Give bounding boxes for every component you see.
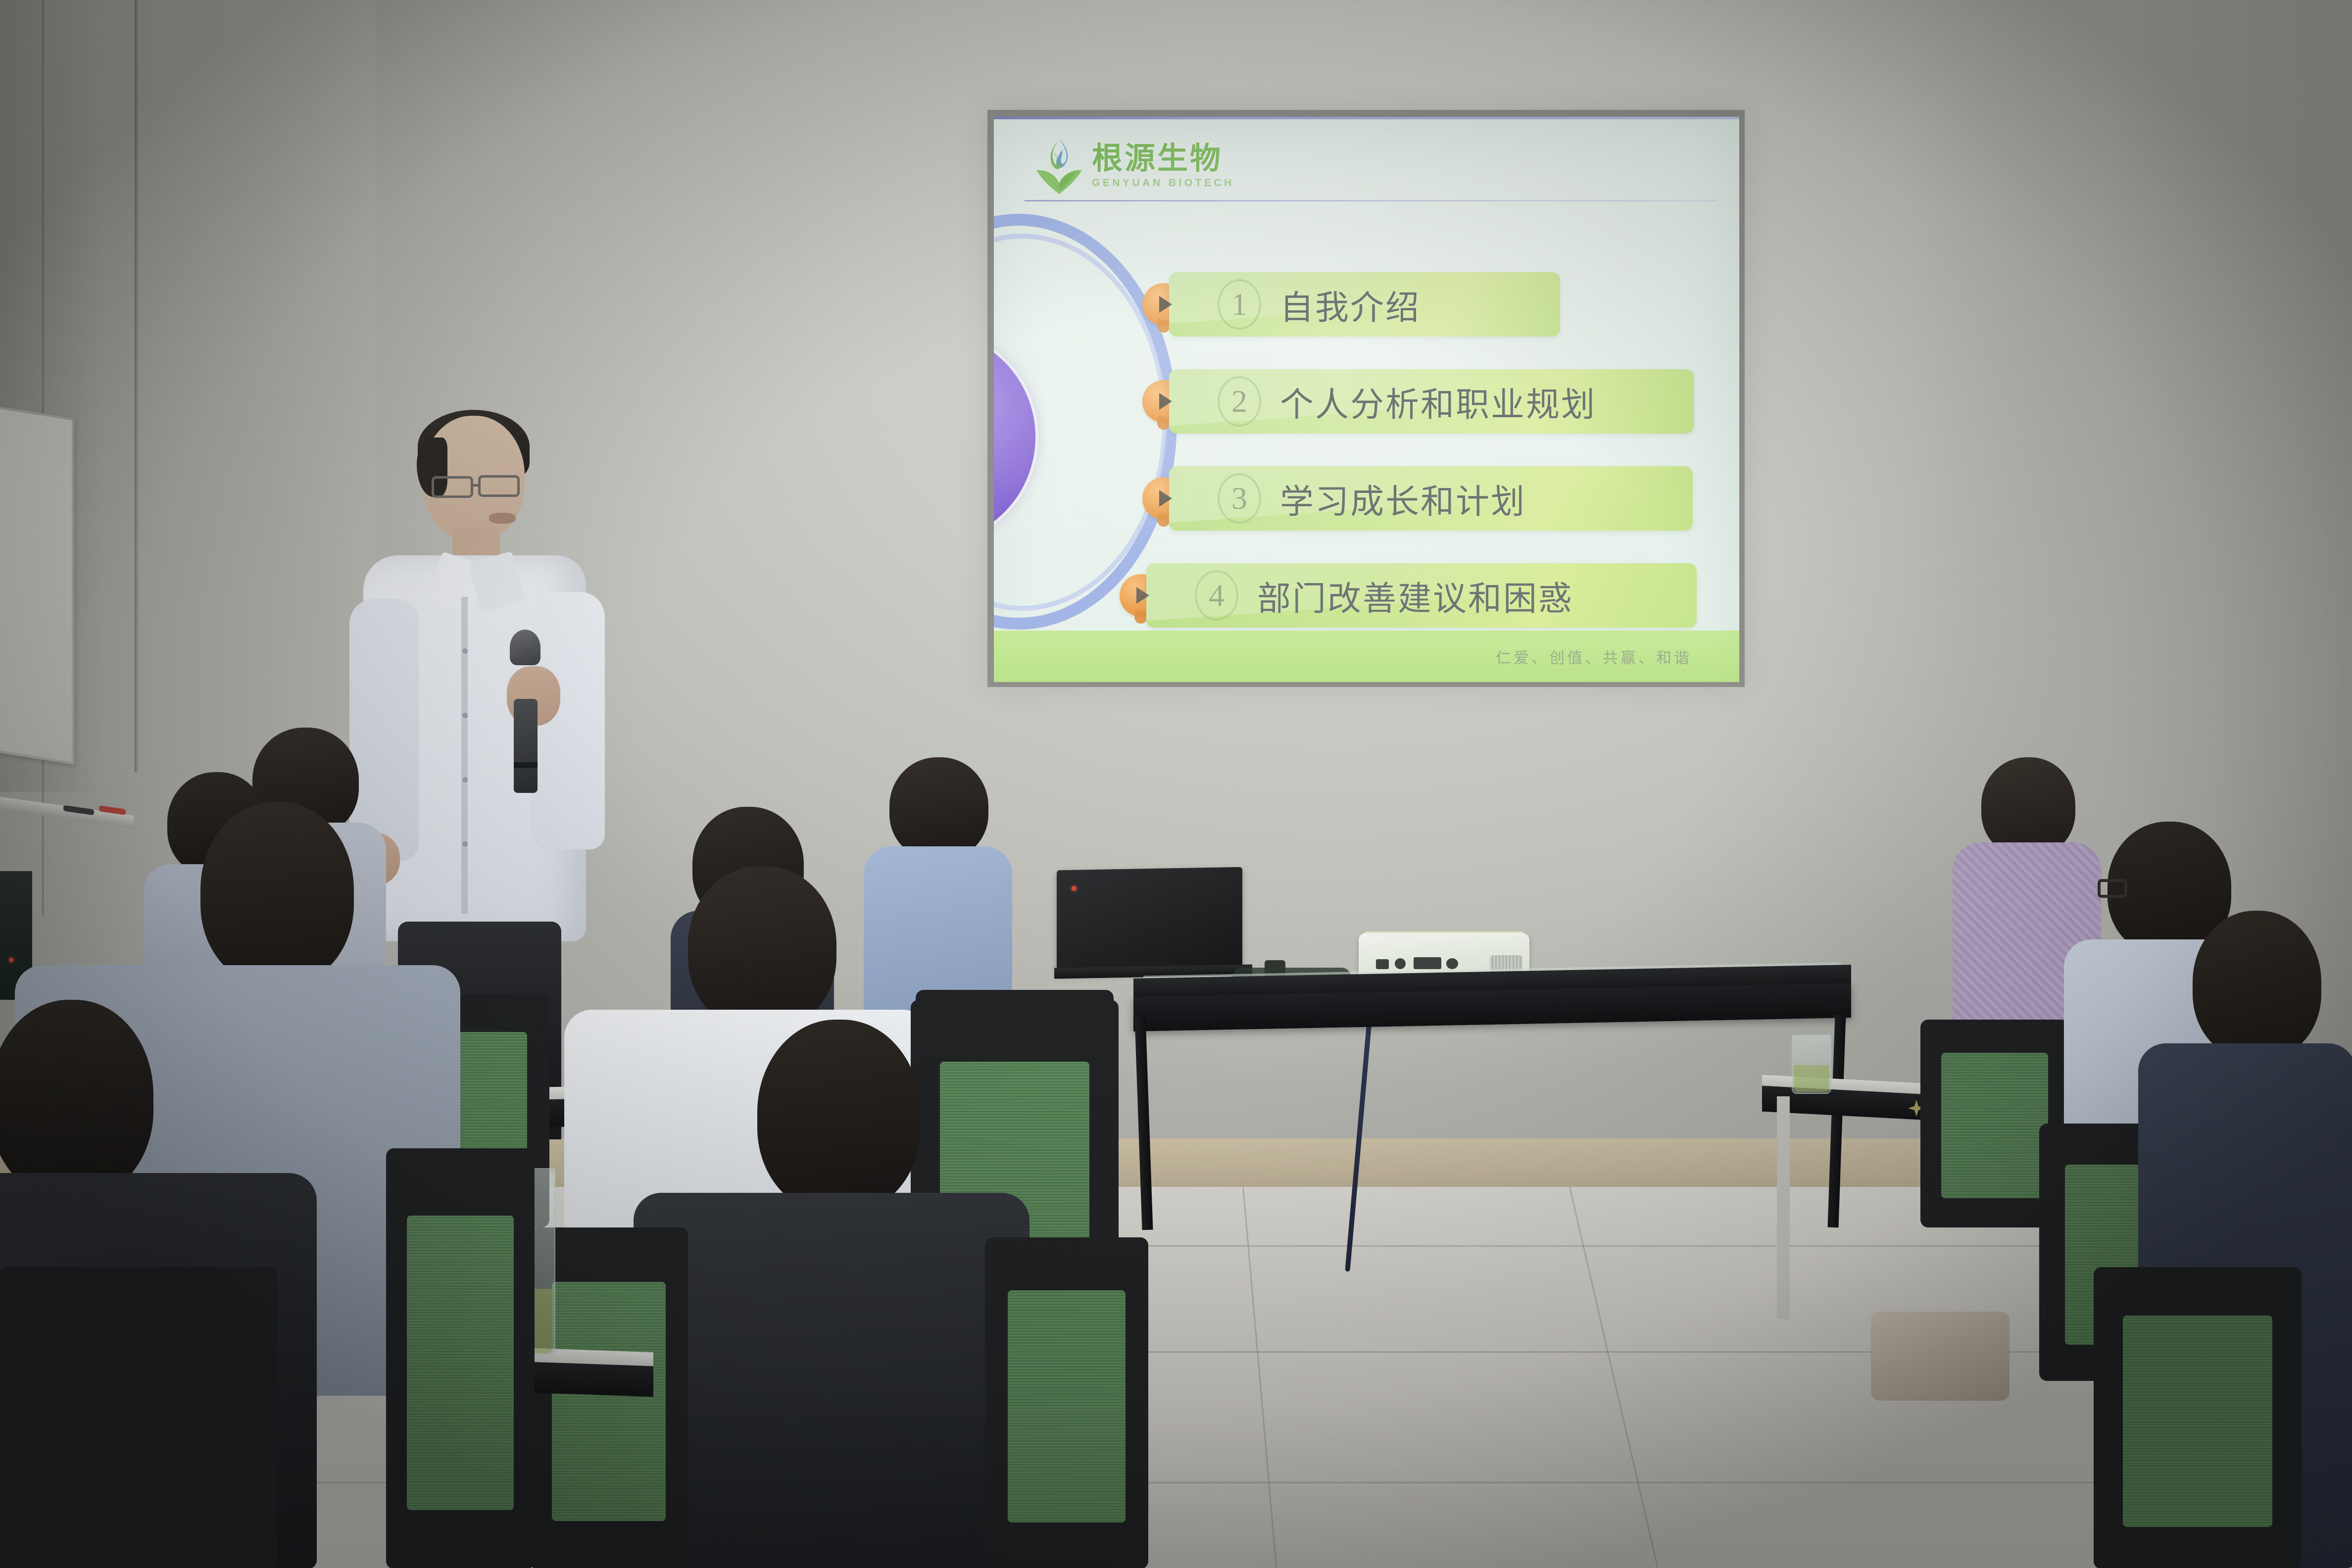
agenda-number: 4: [1195, 570, 1238, 621]
agenda-item-1: 1 自我介绍: [1142, 265, 1697, 362]
person-head: [200, 802, 354, 985]
leaf-flame-logo-icon: [1033, 136, 1085, 195]
presenter-mouth: [489, 513, 516, 524]
agenda-number: 2: [1218, 376, 1261, 427]
slide-footer-slogan: 仁爱、创值、共赢、和谐: [1496, 645, 1692, 668]
water-glass: [1792, 1034, 1831, 1094]
agenda-label: 部门改善建议和困惑: [1257, 571, 1573, 620]
agenda-label: 自我介绍: [1280, 280, 1421, 329]
microphone-ring: [514, 762, 538, 768]
person-head: [1981, 757, 2075, 856]
glasses-bridge-icon: [472, 484, 480, 487]
agenda-item-2: 2 个人分析和职业规划: [1142, 362, 1697, 459]
person-head: [2193, 911, 2321, 1059]
audience-person-center-front: [634, 1020, 1029, 1568]
logo-chinese-text: 根源生物: [1092, 143, 1234, 174]
projected-slide: 根源生物 GENYUAN BIOTECH 1 自我介绍: [994, 117, 1739, 682]
draped-jacket: [1871, 1312, 2009, 1401]
presenter-shirt-placket: [461, 597, 468, 914]
agenda-number: 3: [1218, 473, 1261, 524]
slide-footer-band: 仁爱、创值、共赢、和谐: [994, 631, 1739, 682]
agenda-bar: 3 学习成长和计划: [1169, 466, 1693, 531]
agenda-label: 个人分析和职业规划: [1280, 377, 1596, 426]
audience-desk-right-leg: [1777, 1096, 1790, 1319]
agenda-number: 1: [1218, 279, 1261, 330]
microphone-body-icon: [514, 699, 538, 793]
slide-header-divider: [1025, 200, 1717, 201]
agenda-bar: 4 部门改善建议和困惑: [1146, 563, 1697, 628]
person-torso: [634, 1193, 1029, 1568]
agenda-label: 学习成长和计划: [1280, 474, 1526, 523]
agenda-bar: 2 个人分析和职业规划: [1169, 369, 1694, 434]
laptop-lid: [1057, 867, 1242, 975]
audience-chair-left-front: [0, 1267, 277, 1568]
microphone-head-icon: [510, 630, 540, 665]
monitor-power-led-icon: [9, 958, 13, 962]
person-head: [0, 1000, 153, 1198]
glasses-right-lens-icon: [478, 475, 520, 497]
audience-chair-left-mid: [386, 1148, 535, 1568]
audience-chair-center-front-right: [985, 1237, 1148, 1568]
glasses-left-lens-icon: [432, 476, 473, 498]
laptop-led-icon: [1072, 886, 1077, 891]
company-logo: 根源生物 GENYUAN BIOTECH: [1033, 136, 1234, 195]
eyeglasses-icon: [2098, 879, 2127, 898]
slide-top-accent: [994, 117, 1739, 119]
audience-chair-right-3: [2094, 1267, 2302, 1568]
person-head: [889, 757, 988, 859]
person-head: [688, 866, 836, 1029]
agenda-item-3: 3 学习成长和计划: [1142, 459, 1697, 556]
agenda-bar: 1 自我介绍: [1169, 272, 1560, 337]
agenda-list: 1 自我介绍 2 个人分析和职业规划 3 学习成长和计划: [1142, 265, 1697, 653]
whiteboard: [0, 403, 74, 765]
person-head: [757, 1020, 921, 1213]
wall-corner-line: [135, 0, 139, 772]
screenshot-root: 根源生物 GENYUAN BIOTECH 1 自我介绍: [0, 0, 2352, 1568]
logo-english-text: GENYUAN BIOTECH: [1092, 178, 1234, 188]
